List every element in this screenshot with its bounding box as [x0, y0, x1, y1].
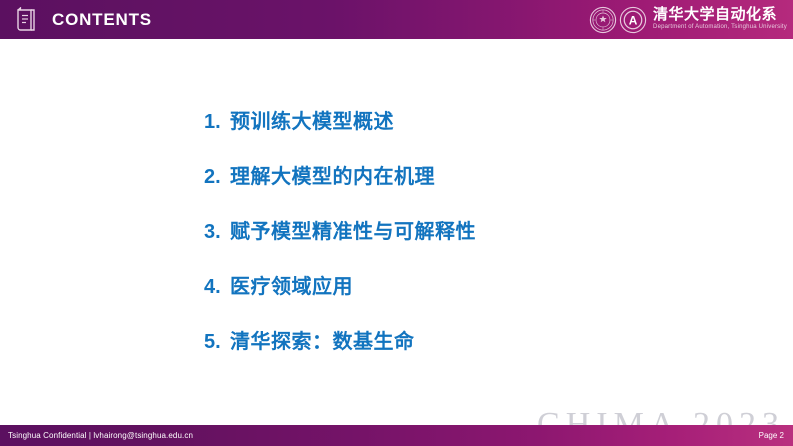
brand-text: 清华大学自动化系 Department of Automation, Tsing… [653, 7, 787, 32]
toc-item-number: 1. [204, 111, 230, 134]
slide-body: 1. 预训练大模型概述 2. 理解大模型的内在机理 3. 赋予模型精准性与可解释… [0, 39, 793, 413]
svg-text:A: A [629, 13, 638, 27]
toc-item-number: 5. [204, 331, 230, 354]
slide-header: CONTENTS A 清华大学自动化系 Department of Automa… [0, 0, 793, 39]
toc-item-label: 理解大模型的内在机理 [230, 160, 435, 189]
brand-lockup: A 清华大学自动化系 Department of Automation, Tsi… [589, 6, 787, 34]
tsinghua-seal-icon [589, 6, 617, 34]
brand-name-en: Department of Automation, Tsinghua Unive… [653, 24, 787, 32]
slide-footer: Tsinghua Confidential | lvhairong@tsingh… [0, 425, 793, 446]
brand-name-cn: 清华大学自动化系 [653, 7, 787, 23]
toc-item-label: 清华探索：数基生命 [230, 325, 415, 354]
table-of-contents: 1. 预训练大模型概述 2. 理解大模型的内在机理 3. 赋予模型精准性与可解释… [204, 105, 476, 380]
list-item[interactable]: 1. 预训练大模型概述 [204, 105, 476, 160]
confidentiality-note: Tsinghua Confidential | lvhairong@tsingh… [8, 431, 193, 440]
toc-item-number: 2. [204, 166, 230, 189]
page-title: CONTENTS [52, 11, 152, 28]
list-item[interactable]: 3. 赋予模型精准性与可解释性 [204, 215, 476, 270]
toc-item-number: 3. [204, 221, 230, 244]
toc-item-number: 4. [204, 276, 230, 299]
page-number: Page 2 [759, 431, 784, 440]
document-list-icon [12, 5, 42, 35]
toc-item-label: 赋予模型精准性与可解释性 [230, 215, 476, 244]
list-item[interactable]: 2. 理解大模型的内在机理 [204, 160, 476, 215]
toc-item-label: 预训练大模型概述 [230, 105, 394, 134]
automation-a-badge-icon: A [619, 6, 647, 34]
list-item[interactable]: 4. 医疗领域应用 [204, 270, 476, 325]
list-item[interactable]: 5. 清华探索：数基生命 [204, 325, 476, 380]
toc-item-label: 医疗领域应用 [230, 270, 353, 299]
